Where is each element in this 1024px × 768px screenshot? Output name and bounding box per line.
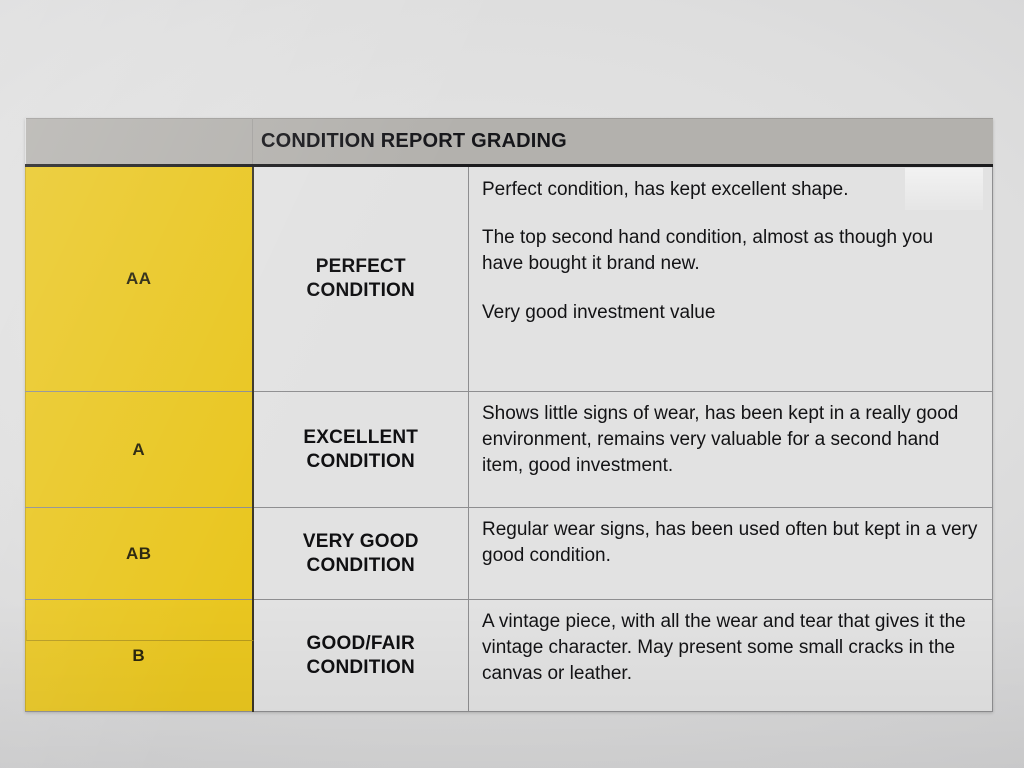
grade-label-line1: VERY GOOD (258, 530, 465, 554)
header-left-spacer (26, 119, 253, 166)
table-row: AA PERFECT CONDITION Perfect condition, … (26, 166, 993, 392)
grade-description-aa: Perfect condition, has kept excellent sh… (469, 166, 993, 392)
description-paragraph: The top second hand condition, almost as… (482, 225, 978, 277)
grade-label-ab: VERY GOOD CONDITION (253, 508, 469, 600)
table-header-row: CONDITION REPORT GRADING (26, 119, 993, 166)
grade-label-line1: PERFECT (258, 255, 465, 279)
photographed-paper-surface: CONDITION REPORT GRADING AA PERFECT COND… (0, 0, 1024, 768)
table-row: B GOOD/FAIR CONDITION A vintage piece, w… (26, 600, 993, 712)
grade-code-aa: AA (26, 166, 253, 392)
grade-label-line2: CONDITION (258, 554, 465, 578)
grade-label-line2: CONDITION (258, 656, 465, 680)
grade-description-a: Shows little signs of wear, has been kep… (469, 392, 993, 508)
grade-description-ab: Regular wear signs, has been used often … (469, 508, 993, 600)
table-title: CONDITION REPORT GRADING (253, 119, 993, 166)
grade-label-line1: EXCELLENT (258, 426, 465, 450)
grade-label-b: GOOD/FAIR CONDITION (253, 600, 469, 712)
grade-code-a: A (26, 392, 253, 508)
grade-label-aa: PERFECT CONDITION (253, 166, 469, 392)
grade-code-ab: AB (26, 508, 253, 600)
description-paragraph: Perfect condition, has kept excellent sh… (482, 177, 978, 203)
table-row: AB VERY GOOD CONDITION Regular wear sign… (26, 508, 993, 600)
table-row: A EXCELLENT CONDITION Shows little signs… (26, 392, 993, 508)
description-paragraph: Shows little signs of wear, has been kep… (482, 401, 978, 480)
description-paragraph: Regular wear signs, has been used often … (482, 517, 978, 569)
description-paragraph: A vintage piece, with all the wear and t… (482, 609, 978, 688)
grade-code-b: B (26, 600, 253, 712)
grade-label-a: EXCELLENT CONDITION (253, 392, 469, 508)
table-header: CONDITION REPORT GRADING (26, 119, 993, 166)
grade-label-line2: CONDITION (258, 279, 465, 303)
grade-label-line2: CONDITION (258, 450, 465, 474)
description-paragraph: Very good investment value (482, 300, 978, 326)
grade-label-line1: GOOD/FAIR (258, 632, 465, 656)
grade-description-b: A vintage piece, with all the wear and t… (469, 600, 993, 712)
condition-grading-table: CONDITION REPORT GRADING AA PERFECT COND… (25, 118, 993, 712)
grade-column-overhang (26, 630, 254, 641)
